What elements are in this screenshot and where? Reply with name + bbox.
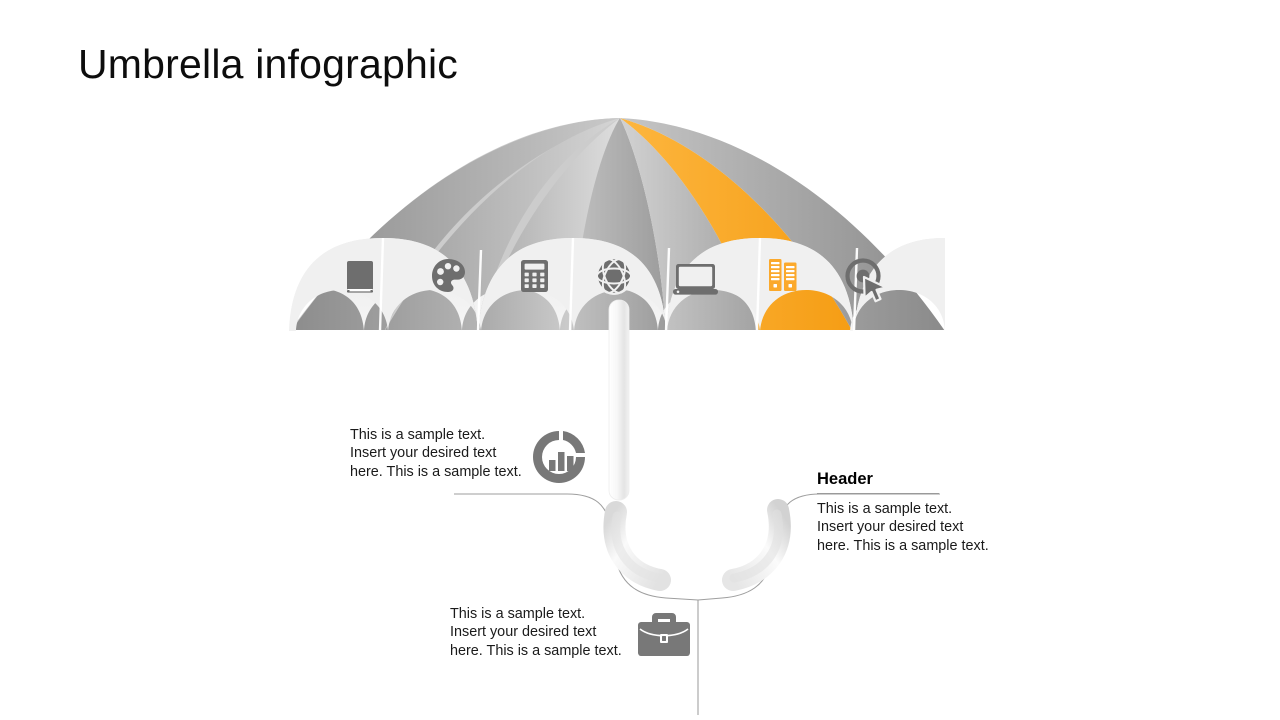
text-block-bottom: This is a sample text. Insert your desir… [450,605,640,660]
briefcase-icon[interactable] [636,610,692,658]
umbrella-stem [609,300,629,500]
connector-left [454,494,616,560]
header-rule [817,493,939,494]
analytics-chart-icon[interactable] [529,427,589,487]
text-block-right-header: Header [817,469,1012,489]
text-block-left: This is a sample text. Insert your desir… [350,426,532,481]
text-block-right: Header This is a sample text. Insert you… [817,469,1012,555]
text-block-left-body: This is a sample text. Insert your desir… [350,426,532,481]
book-icon[interactable] [347,261,373,293]
calculator-icon[interactable] [521,260,548,292]
laptop-icon[interactable] [673,264,718,295]
text-block-right-body: This is a sample text. Insert your desir… [817,500,1012,555]
text-block-bottom-body: This is a sample text. Insert your desir… [450,605,640,660]
umbrella-handle [615,510,780,580]
